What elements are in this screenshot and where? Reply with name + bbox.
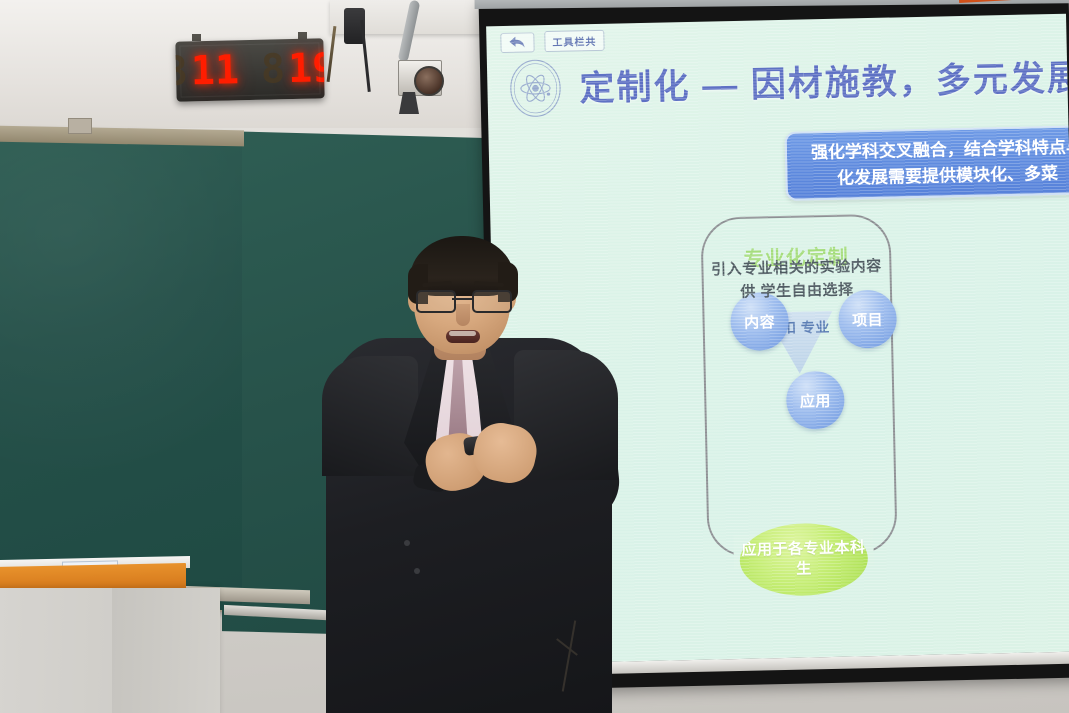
slide-title: 定制化 — 因材施教，多元发展: [579, 50, 1050, 111]
clock-digits: 8 11 8 19: [175, 48, 324, 92]
blackboard: [0, 138, 242, 611]
left-lens: [416, 290, 456, 313]
tools-button[interactable]: 工具栏共: [544, 30, 604, 52]
led-wall-clock: 8 11 8 19: [175, 38, 324, 101]
clock-mount-tab: [192, 34, 201, 41]
slide-toolbar[interactable]: 工具栏共: [500, 30, 604, 53]
back-arrow-icon: [508, 35, 526, 49]
left-shoulder: [322, 356, 418, 476]
clock-ghost-digit: 8: [261, 49, 286, 90]
clock-minutes: 19: [288, 48, 325, 89]
back-arrow-button[interactable]: [500, 32, 534, 53]
slide-banner-text: 强化学科交叉融合，结合学科特点与 化发展需要提供模块化、多菜: [784, 125, 1069, 201]
presenter: [318, 238, 618, 713]
university-atom-emblem: [507, 57, 564, 120]
right-lens: [472, 290, 512, 313]
outcome-ellipse: 应用于各专业本科生: [739, 522, 869, 597]
podium-side-panel: [112, 588, 220, 713]
clock-ghost-digit: 8: [175, 51, 188, 92]
jacket-button: [404, 540, 410, 546]
blackboard-clip: [68, 118, 92, 134]
lecture-hall-photo: 8 11 8 19 工具栏共: [0, 0, 1069, 713]
tools-button-label: 工具栏共: [552, 33, 596, 49]
capsule-note: 引入专业相关的实验内容供 学生自由选择: [705, 256, 888, 305]
camera-lens-icon: [414, 66, 444, 96]
clock-hours: 11: [190, 50, 239, 91]
nose: [456, 304, 470, 326]
glasses-bridge: [452, 298, 474, 300]
teeth: [449, 331, 476, 336]
jacket-button: [414, 568, 420, 574]
